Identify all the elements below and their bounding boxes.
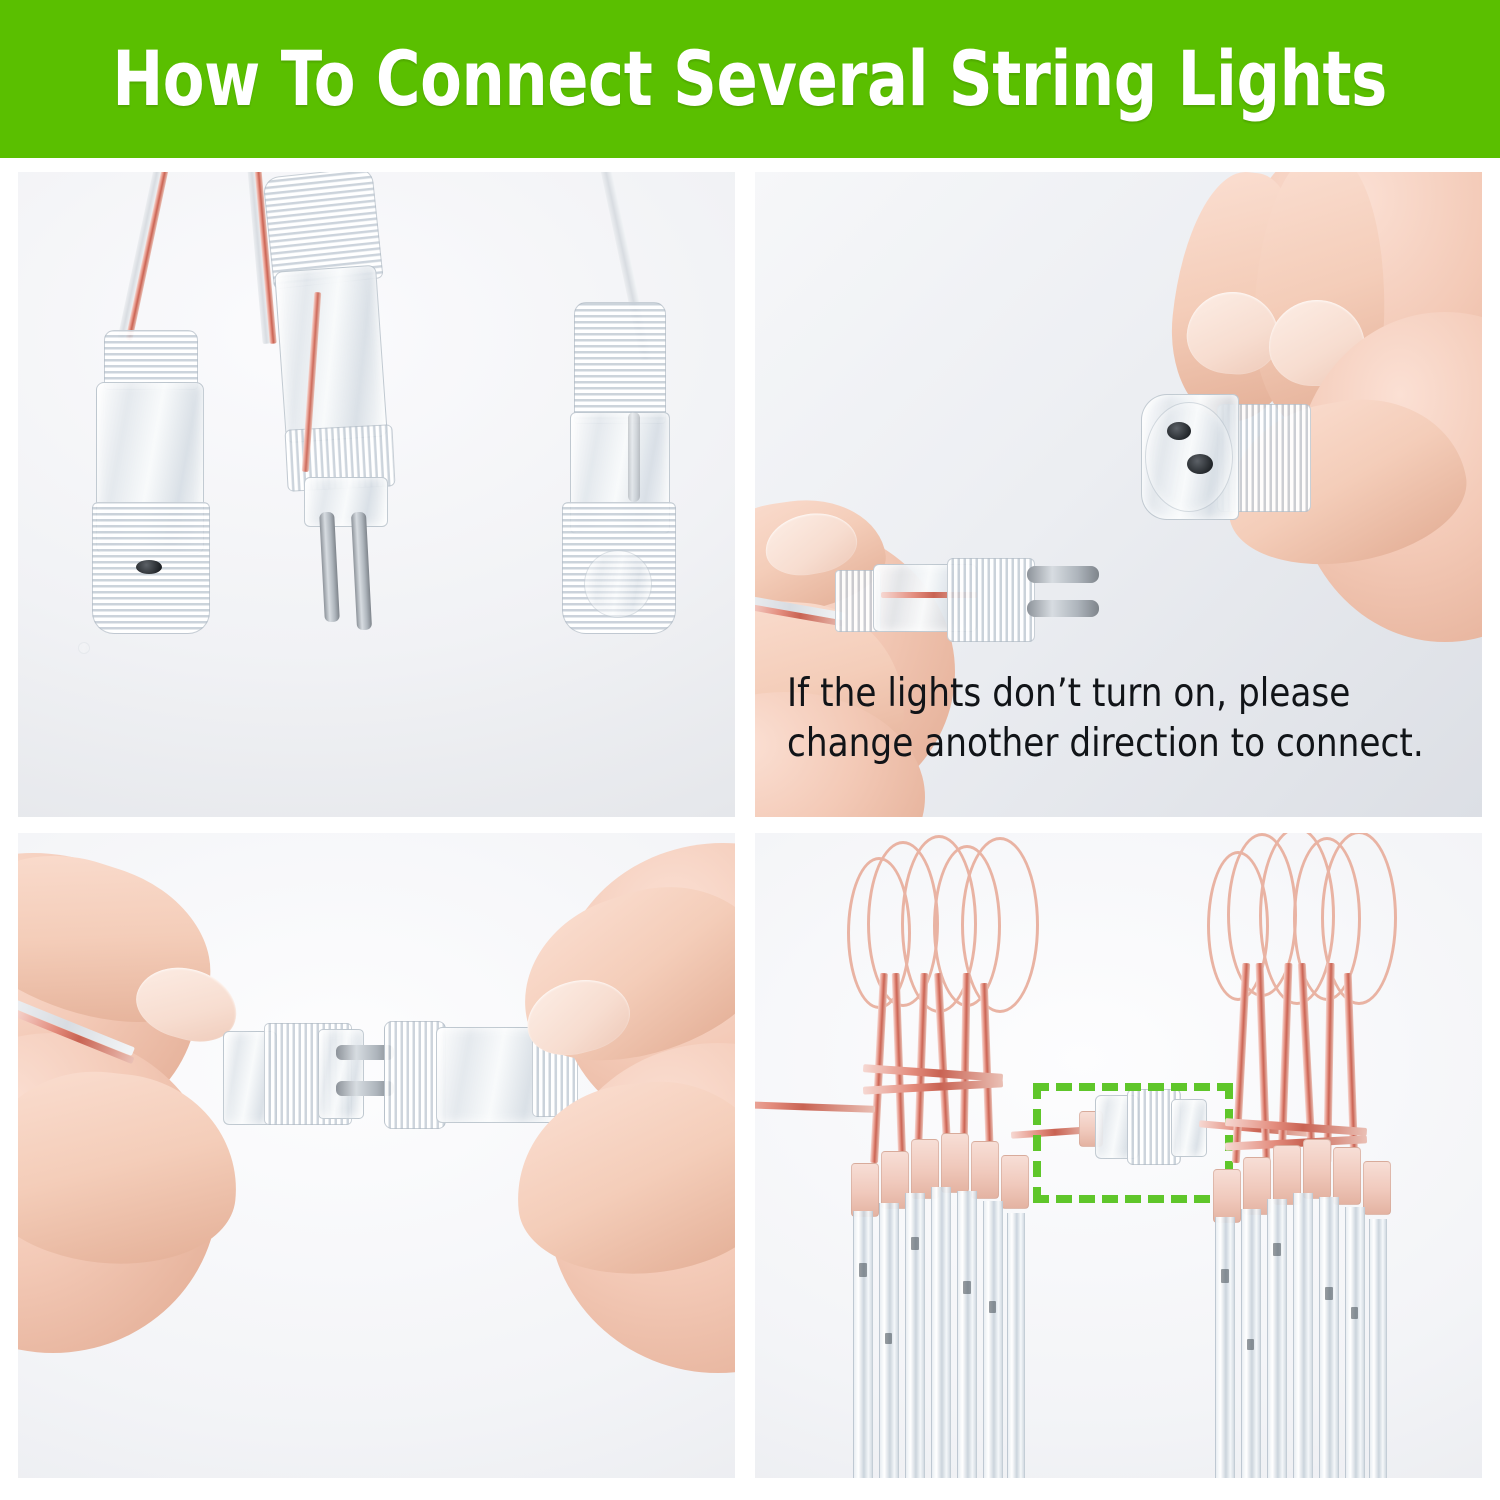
page-title: How To Connect Several String Lights	[113, 41, 1388, 117]
panel-connected-strings	[755, 833, 1482, 1478]
panel-2-caption: If the lights don’t turn on, please chan…	[787, 669, 1456, 769]
instruction-panel-grid: If the lights don’t turn on, please chan…	[18, 172, 1482, 1478]
panel-connectors-overview	[18, 172, 735, 817]
panel-plug-into-connector: Connect the plug to end-to-end connector…	[18, 833, 735, 1478]
page-header-banner: How To Connect Several String Lights	[0, 0, 1500, 158]
panel-direction-hint: If the lights don’t turn on, please chan…	[755, 172, 1482, 817]
dashed-highlight-icon	[1033, 1083, 1233, 1203]
